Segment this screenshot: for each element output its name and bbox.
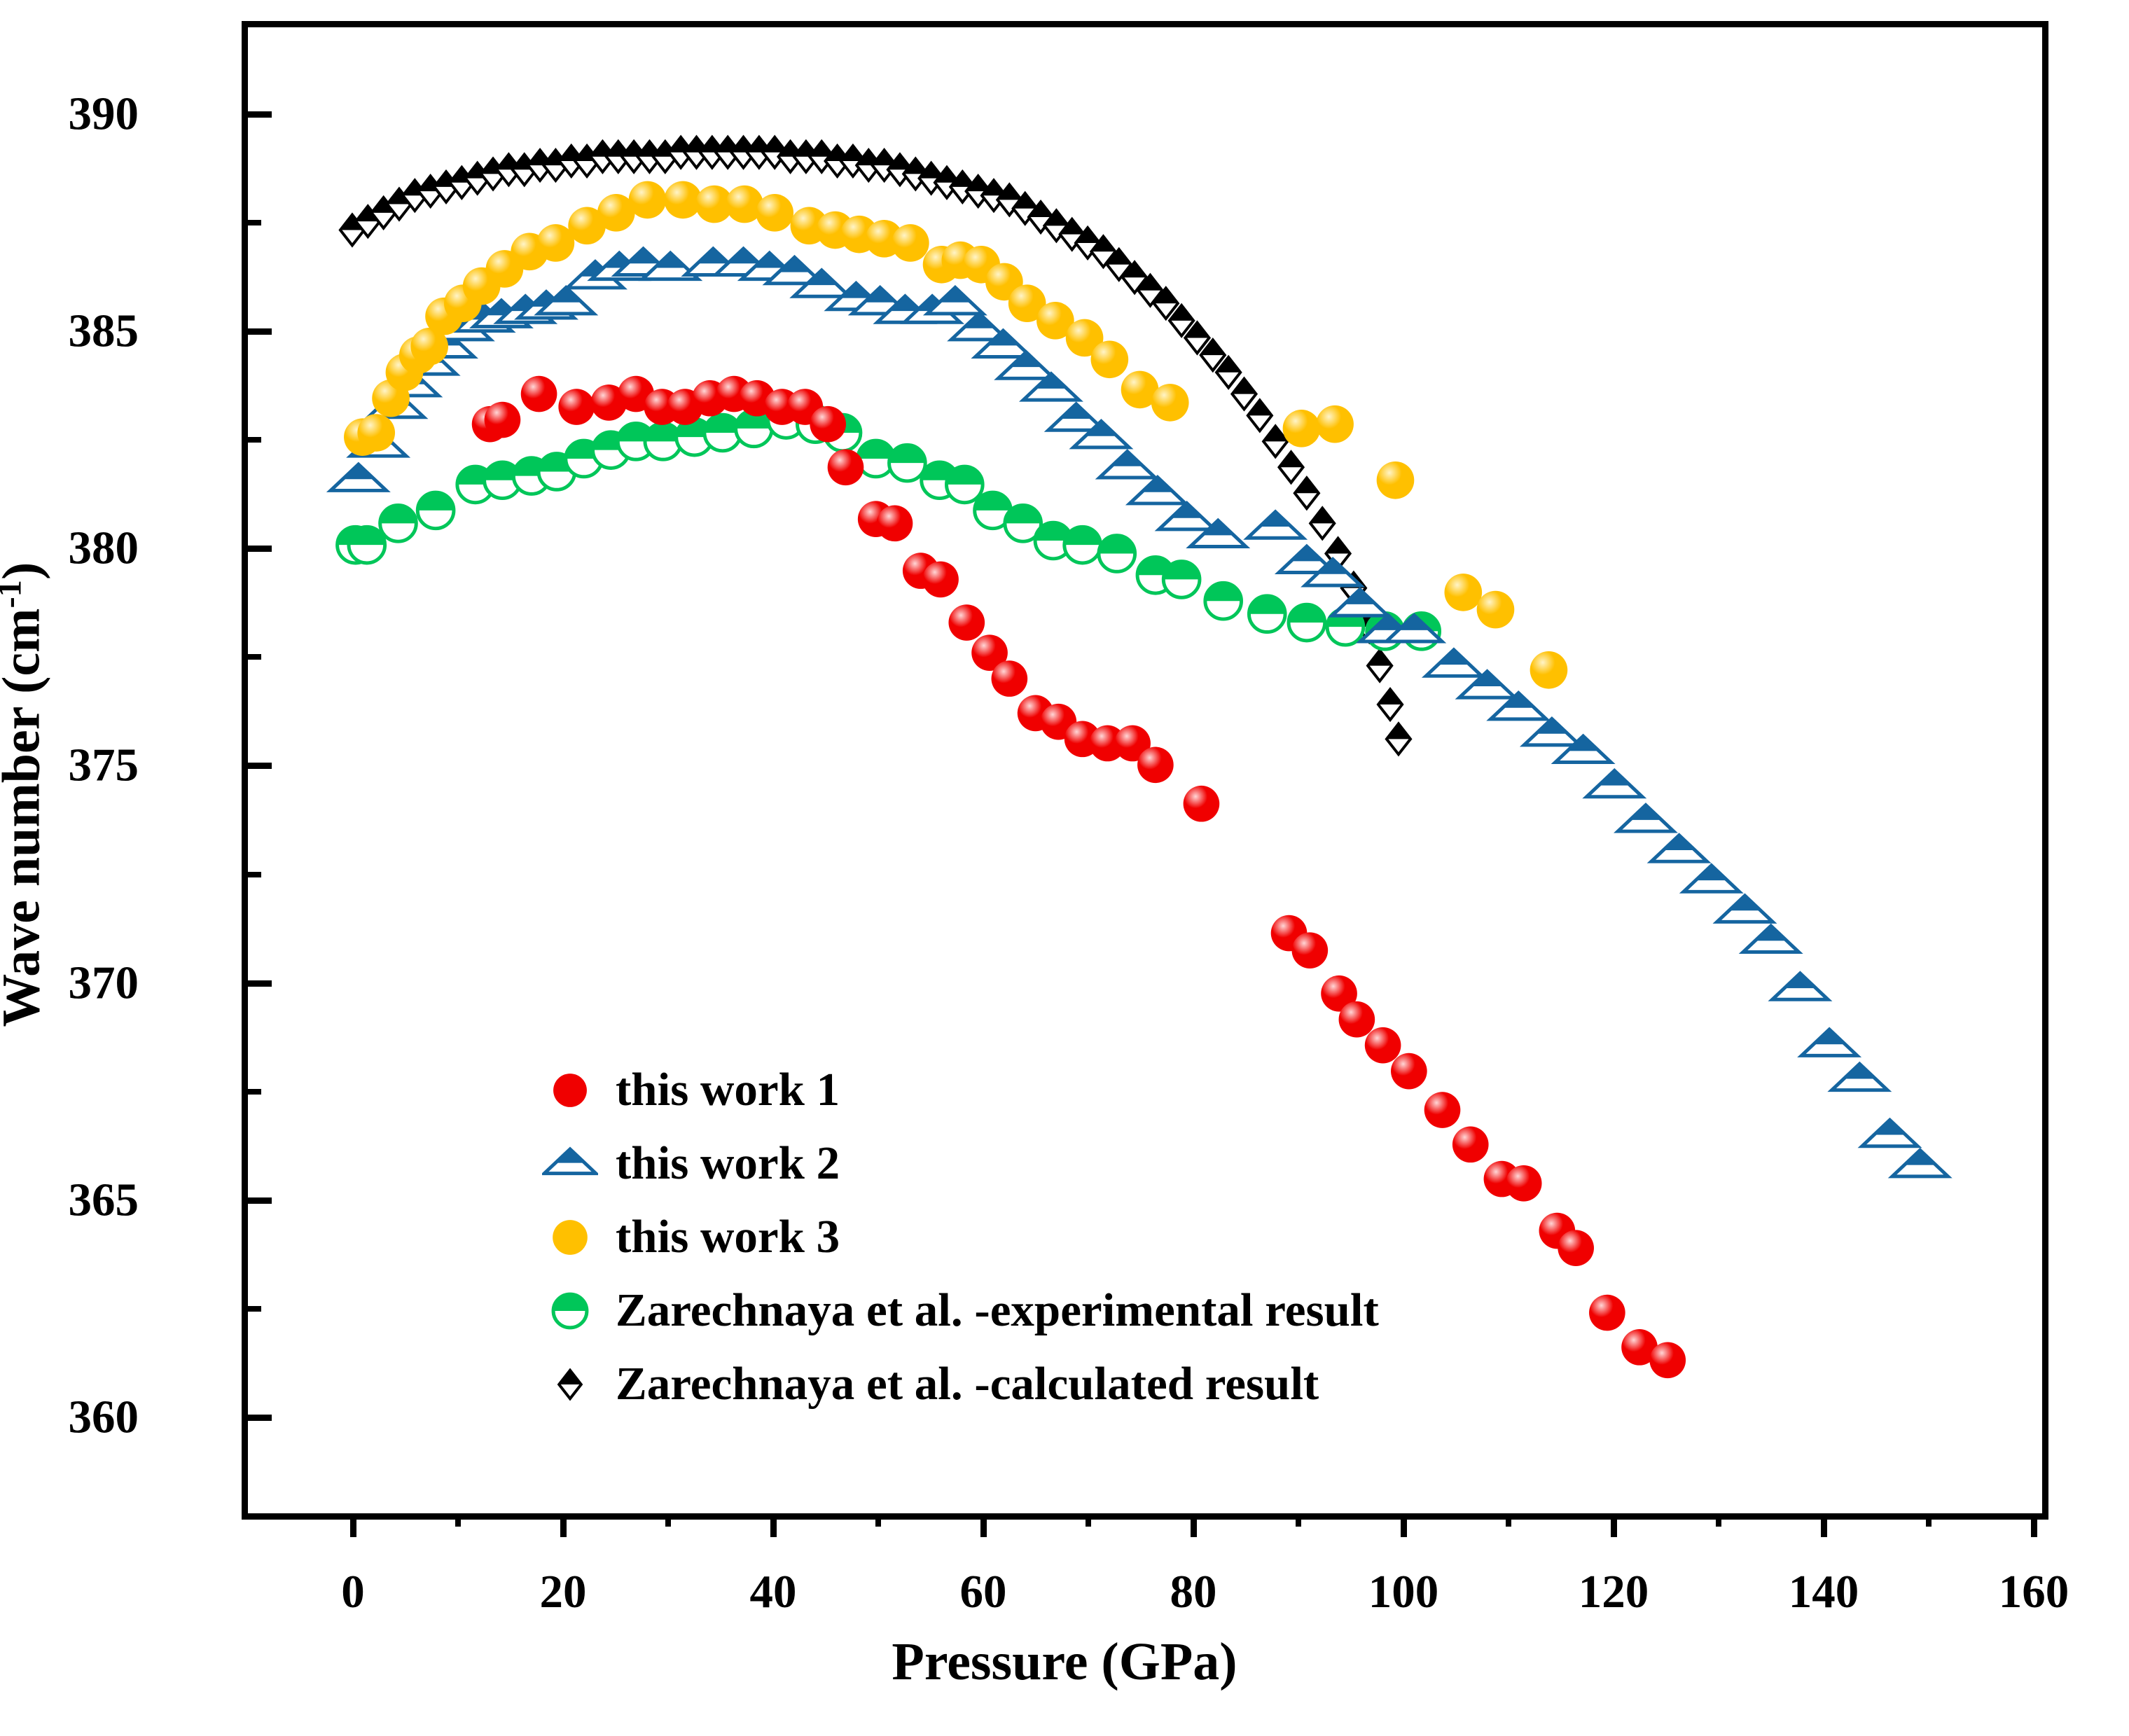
data-point-circle-half-green	[946, 466, 983, 503]
data-point-diamond-half-black	[1279, 452, 1303, 482]
x-tick-major	[350, 1513, 356, 1537]
data-point-sphere-red	[922, 562, 959, 598]
data-point-sphere-red	[810, 406, 846, 443]
data-point-sphere-yellow	[1377, 461, 1415, 499]
x-tick-label: 100	[1368, 1565, 1439, 1619]
data-point-circle-half-green	[1289, 604, 1325, 641]
data-point-circle-half-green	[349, 527, 385, 563]
data-point-sphere-red	[828, 449, 864, 485]
data-point-sphere-red	[521, 376, 557, 412]
data-point-triangle-half-blue	[1159, 503, 1214, 529]
data-point-sphere-red	[558, 389, 595, 425]
data-point-sphere-yellow	[1151, 384, 1189, 422]
data-point-triangle-half-blue	[1130, 477, 1185, 503]
data-point-circle-half-green	[1205, 583, 1242, 619]
data-point-circle-half-green	[889, 445, 926, 481]
data-point-sphere-red	[948, 604, 985, 641]
y-tick-label: 365	[69, 1173, 139, 1227]
legend-marker-sphere-yellow	[525, 1209, 616, 1265]
chart-legend: this work 1this work 2this work 3Zarechn…	[525, 1053, 1855, 1421]
x-tick-major	[1611, 1513, 1617, 1537]
y-tick-minor	[248, 872, 261, 877]
y-axis-title: Wave number (cm-1)	[0, 410, 53, 1180]
data-point-sphere-red	[485, 402, 521, 438]
data-point-circle-half-green	[1249, 596, 1285, 632]
legend-item-2[interactable]: this work 2	[525, 1127, 1855, 1200]
data-point-triangle-half-blue	[1524, 718, 1579, 744]
x-tick-label: 80	[1170, 1565, 1217, 1619]
x-tick-major	[1821, 1513, 1827, 1537]
y-tick-major	[248, 1197, 272, 1204]
y-tick-major	[248, 328, 272, 335]
x-tick-minor	[665, 1513, 671, 1527]
data-point-sphere-yellow	[756, 194, 793, 232]
x-tick-label: 20	[540, 1565, 587, 1619]
legend-marker-triangle-half-blue	[525, 1136, 616, 1192]
data-point-sphere-yellow	[1316, 405, 1354, 443]
x-tick-major	[560, 1513, 567, 1537]
y-tick-label: 370	[69, 956, 139, 1010]
y-tick-minor	[248, 654, 261, 660]
x-tick-major	[980, 1513, 987, 1537]
data-point-sphere-yellow	[892, 224, 929, 262]
y-tick-major	[248, 111, 272, 118]
data-point-sphere-red	[553, 1074, 587, 1107]
data-point-triangle-half-blue	[1247, 512, 1303, 538]
data-point-sphere-red	[877, 506, 913, 542]
data-point-sphere-yellow	[357, 414, 395, 452]
data-point-sphere-yellow	[1283, 410, 1321, 447]
legend-item-4[interactable]: Zarechnaya et al. -experimental result	[525, 1274, 1855, 1347]
y-axis-title-tail: )	[0, 562, 51, 580]
data-point-triangle-half-blue	[1862, 1120, 1918, 1146]
y-tick-label: 385	[69, 305, 139, 359]
data-point-triangle-half-blue	[1618, 805, 1673, 831]
x-tick-major	[2031, 1513, 2037, 1537]
data-point-circle-half-green	[380, 506, 417, 542]
x-tick-minor	[1716, 1513, 1721, 1527]
data-point-diamond-half-black	[1378, 689, 1402, 720]
x-tick-minor	[1506, 1513, 1511, 1527]
data-point-triangle-half-blue	[1743, 926, 1798, 952]
data-point-sphere-yellow	[553, 1220, 588, 1255]
figure-root: 360365370375380385390 020406080100120140…	[0, 0, 2129, 1736]
legend-marker-sphere-red	[525, 1062, 616, 1118]
x-tick-minor	[1926, 1513, 1932, 1527]
legend-marker-circle-half-green	[525, 1283, 616, 1339]
legend-label: this work 2	[616, 1137, 840, 1190]
y-tick-minor	[248, 1089, 261, 1095]
x-tick-minor	[875, 1513, 881, 1527]
data-point-sphere-yellow	[1091, 340, 1129, 378]
data-point-diamond-half-black	[1368, 651, 1392, 681]
data-point-diamond-half-black	[1295, 478, 1319, 508]
data-point-sphere-yellow	[1444, 574, 1482, 611]
data-point-circle-half-green	[1099, 536, 1135, 572]
data-point-diamond-half-black	[1310, 508, 1334, 539]
x-tick-label: 120	[1579, 1565, 1649, 1619]
data-point-sphere-red	[992, 660, 1028, 697]
data-point-circle-half-green	[1064, 527, 1101, 563]
x-tick-major	[770, 1513, 777, 1537]
data-point-circle-half-green	[553, 1294, 587, 1328]
plot-area: 360365370375380385390 020406080100120140…	[242, 21, 2048, 1520]
y-tick-label: 380	[69, 522, 139, 576]
y-tick-minor	[248, 437, 261, 443]
x-tick-label: 140	[1789, 1565, 1859, 1619]
legend-label: Zarechnaya et al. -calculated result	[616, 1357, 1319, 1411]
data-point-diamond-half-black	[1248, 401, 1272, 431]
x-tick-minor	[1296, 1513, 1301, 1527]
data-point-sphere-yellow	[1530, 651, 1568, 689]
data-point-triangle-half-blue	[1717, 896, 1773, 922]
data-point-sphere-red	[1339, 1001, 1375, 1038]
y-axis-title-base: Wave number (cm	[0, 609, 51, 1027]
x-tick-minor	[1086, 1513, 1091, 1527]
x-tick-label: 160	[1999, 1565, 2069, 1619]
x-tick-major	[1401, 1513, 1407, 1537]
legend-label: Zarechnaya et al. -experimental result	[616, 1284, 1379, 1338]
data-point-triangle-half-blue	[1426, 650, 1481, 676]
data-point-triangle-half-blue	[1892, 1150, 1948, 1176]
x-tick-major	[1191, 1513, 1197, 1537]
y-tick-minor	[248, 220, 261, 225]
data-point-triangle-half-blue	[1801, 1029, 1857, 1055]
data-point-circle-half-green	[1163, 562, 1200, 598]
y-tick-major	[248, 763, 272, 769]
data-point-triangle-half-blue	[1773, 973, 1828, 999]
data-point-sphere-yellow	[629, 181, 667, 219]
y-tick-label: 390	[69, 88, 139, 141]
data-point-sphere-red	[1137, 747, 1174, 783]
y-tick-major	[248, 980, 272, 987]
data-point-diamond-half-black	[1232, 379, 1256, 410]
data-point-sphere-yellow	[1477, 591, 1515, 629]
y-tick-minor	[248, 1306, 261, 1312]
data-point-diamond-half-black	[559, 1370, 581, 1398]
y-tick-label: 360	[69, 1390, 139, 1444]
y-tick-label: 375	[69, 739, 139, 793]
x-tick-label: 0	[341, 1565, 365, 1619]
y-tick-major	[248, 546, 272, 552]
x-tick-minor	[455, 1513, 461, 1527]
data-point-sphere-red	[1292, 932, 1329, 968]
data-point-sphere-red	[1184, 786, 1220, 822]
data-point-triangle-half-blue	[1332, 590, 1387, 616]
y-axis-title-superscript: -1	[0, 580, 28, 609]
data-point-circle-half-green	[417, 492, 454, 529]
x-axis-title: Pressure (GPa)	[0, 1632, 2129, 1693]
legend-marker-diamond-half-black	[525, 1356, 616, 1412]
y-tick-major	[248, 1415, 272, 1421]
legend-label: this work 1	[616, 1063, 840, 1117]
legend-item-3[interactable]: this work 3	[525, 1200, 1855, 1274]
data-point-triangle-half-blue	[331, 464, 386, 490]
data-point-triangle-half-blue	[1651, 835, 1707, 861]
data-point-triangle-half-blue	[1684, 866, 1739, 891]
data-point-diamond-half-black	[1387, 723, 1410, 754]
legend-item-5[interactable]: Zarechnaya et al. -calculated result	[525, 1347, 1855, 1421]
data-point-triangle-half-blue	[1587, 770, 1642, 796]
data-point-triangle-half-blue	[1100, 451, 1155, 477]
data-point-triangle-half-blue	[544, 1148, 596, 1173]
legend-label: this work 3	[616, 1210, 840, 1264]
x-tick-label: 40	[750, 1565, 797, 1619]
legend-item-1[interactable]: this work 1	[525, 1053, 1855, 1127]
x-tick-label: 60	[960, 1565, 1007, 1619]
